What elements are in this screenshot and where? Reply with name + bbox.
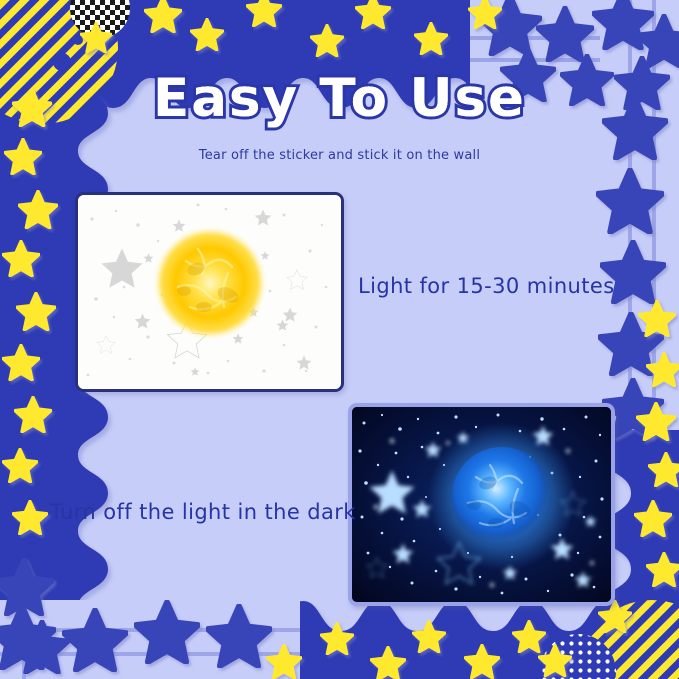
caption-light-step: Light for 15-30 minutes <box>358 274 615 298</box>
poster-content: Easy To Use Easy To Use Tear off the sti… <box>0 0 679 679</box>
lit-room-photo <box>75 192 344 392</box>
dark-room-photo <box>348 403 615 606</box>
poster-canvas: Easy To Use Easy To Use Tear off the sti… <box>0 0 679 679</box>
caption-dark-step: Turn off the light in the dark <box>50 500 356 524</box>
page-title-fill: Easy To Use <box>0 72 679 125</box>
page-subtitle: Tear off the sticker and stick it on the… <box>0 148 679 163</box>
